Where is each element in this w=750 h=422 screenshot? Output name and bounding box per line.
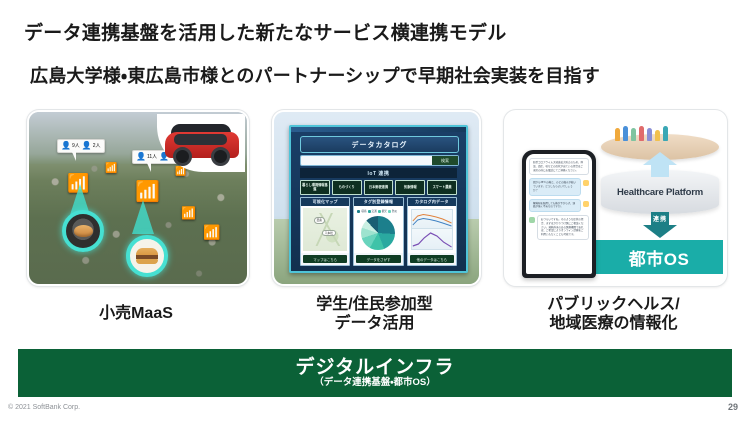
card-title: タグ別登録情報 <box>354 198 402 206</box>
page-number: 29 <box>728 402 738 412</box>
person-icon: 👤 <box>61 142 71 150</box>
food-icon <box>62 210 104 252</box>
card-catalog-data: カタログ内データ <box>407 197 457 266</box>
panel-data-catalog: データカタログ 検索 IoT 連携 暮らし環境情報基盤 ものづくり 日本郵便連携… <box>272 110 481 286</box>
city-os-label: 都市OS <box>629 245 690 270</box>
avatar <box>583 201 589 207</box>
card-action-button[interactable]: 他のデータはこちら <box>410 255 454 263</box>
panel-caption-health: パブリックヘルス/ 地域医療の情報化 <box>504 296 723 334</box>
card-title: 可視化マップ <box>301 198 349 206</box>
window-titlebar <box>291 127 466 132</box>
panels-row: 👤9人 👤2人 👤11人 👤16人 📶 📶 📶 📶 📶 📶 <box>0 110 750 288</box>
chat-row: 朝から38℃の熱と、のどの痛みが続いています。どうしたらよいでしょうか？ <box>529 178 589 198</box>
banner-title: デジタルインフラ <box>295 358 454 377</box>
pie-legend: 環境 交通 観光 防災 <box>357 209 399 213</box>
sparkline <box>412 229 452 249</box>
panel-public-health: Healthcare Platform 連携 都市OS 新型コロナウイルス感染拡… <box>504 110 727 286</box>
card-title: カタログ内データ <box>408 198 456 206</box>
tag-button-row: 暮らし環境情報基盤 ものづくり 日本郵便連携 気象情報 スマート農業 <box>300 180 457 195</box>
card-tag-registrations: タグ別登録情報 環境 交通 観光 防災 データをさがす <box>353 197 403 266</box>
catalog-header: データカタログ <box>300 136 459 153</box>
line-chart-lower <box>411 228 453 250</box>
search-button[interactable]: 検索 <box>432 156 458 165</box>
panel-caption-catalog: 学生/住民参加型 データ活用 <box>272 296 477 334</box>
smartphone-mockup: 新型コロナウイルス感染拡大防止のため、体温、血圧、咳などの症状が出ている場合はご… <box>522 150 596 278</box>
chat-bubble: 解熱剤を服用しても熱が下がらず、頭痛が強く不安なのですが。 <box>529 199 581 213</box>
card-visualization-map: 可視化マップ 西条 八本松 マップはこちら <box>300 197 350 266</box>
banner-subtitle: （データ連携基盤・都市OS） <box>314 378 435 388</box>
map-graphic: 西条 八本松 <box>303 208 347 251</box>
arrow-up-icon <box>643 152 677 177</box>
wifi-icon: 📶 <box>135 182 160 202</box>
person-icon: 👤 <box>136 153 146 161</box>
card-body <box>408 206 456 253</box>
iot-section-label: IoT 連携 <box>300 168 457 178</box>
tag-button[interactable]: 暮らし環境情報基盤 <box>300 180 330 195</box>
tag-button[interactable]: ものづくり <box>332 180 362 195</box>
avatar <box>583 180 589 186</box>
slide-root: データ連携基盤を活用した新たなサービス横連携モデル 広島大学様・東広島市様とのパ… <box>0 0 750 422</box>
chat-row: おつらいですね。そのような症状の場合、まずはかかりつけ医にご相談ください。発熱外… <box>529 215 589 243</box>
digital-infra-banner: デジタルインフラ （データ連携基盤・都市OS） <box>18 349 732 397</box>
wifi-icon: 📶 <box>105 164 117 174</box>
page-subtitle: 広島大学様・東広島市様とのパートナーシップで早期社会実装を目指す <box>30 62 600 88</box>
burger-icon <box>126 235 168 277</box>
people-count-marker: 👤9人 👤2人 <box>57 139 105 153</box>
search-input[interactable]: 検索 <box>300 155 459 166</box>
wifi-icon: 📶 <box>181 207 196 219</box>
legend-entry: 観光 <box>378 209 387 213</box>
chat-screen: 新型コロナウイルス感染拡大防止のため、体温、血圧、咳などの症状が出ている場合はご… <box>526 154 592 274</box>
card-body: 環境 交通 観光 防災 <box>354 206 402 253</box>
card-action-button[interactable]: データをさがす <box>356 255 400 263</box>
map-pin: 八本松 <box>322 230 336 237</box>
panel-retail-maas: 👤9人 👤2人 👤11人 👤16人 📶 📶 📶 📶 📶 📶 <box>27 110 249 286</box>
page-title: データ連携基盤を活用した新たなサービス横連携モデル <box>24 18 507 45</box>
tag-button[interactable]: 気象情報 <box>395 180 425 195</box>
sparkline <box>412 210 452 230</box>
person-icon: 👤 <box>82 142 92 150</box>
card-body: 西条 八本松 <box>301 206 349 253</box>
chat-bubble: 新型コロナウイルス感染拡大防止のため、体温、血圧、咳などの症状が出ている場合はご… <box>529 158 589 175</box>
card-action-button[interactable]: マップはこちら <box>303 255 347 263</box>
avatar <box>529 217 535 223</box>
panel-caption-retail: 小売MaaS <box>27 305 245 324</box>
copyright-text: © 2021 SoftBank Corp. <box>8 404 80 411</box>
city-os-bar: 都市OS <box>595 240 723 274</box>
chat-bubble: おつらいですね。そのような症状の場合、まずはかかりつけ医にご相談ください。発熱外… <box>537 215 589 240</box>
tag-button[interactable]: 日本郵便連携 <box>364 180 394 195</box>
catalog-cards: 可視化マップ 西条 八本松 マップはこちら タグ別登録情報 <box>300 197 457 266</box>
vehicle-icon <box>157 114 245 172</box>
map-pin: 西条 <box>314 217 326 224</box>
wifi-icon: 📶 <box>203 225 220 239</box>
link-label: 連携 <box>653 214 667 223</box>
data-catalog-window: データカタログ 検索 IoT 連携 暮らし環境情報基盤 ものづくり 日本郵便連携… <box>289 125 468 273</box>
legend-entry: 防災 <box>388 209 397 213</box>
legend-entry: 交通 <box>368 209 377 213</box>
chat-row: 解熱剤を服用しても熱が下がらず、頭痛が強く不安なのですが。 <box>529 199 589 216</box>
legend-entry: 環境 <box>357 209 366 213</box>
tag-button[interactable]: スマート農業 <box>427 180 457 195</box>
phone-notch <box>547 150 571 154</box>
chat-bubble: 朝から38℃の熱と、のどの痛みが続いています。どうしたらよいでしょうか？ <box>529 178 581 195</box>
signal-beam <box>132 200 154 234</box>
pie-chart <box>361 216 395 250</box>
